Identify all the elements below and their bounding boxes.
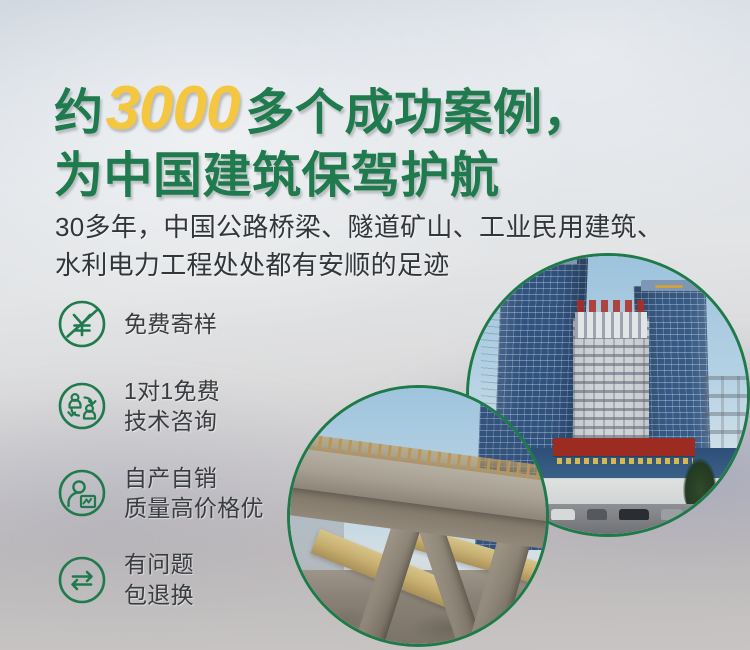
car	[551, 509, 575, 520]
promo-banner: 约3000多个成功案例， 为中国建筑保驾护航 30多年，中国公路桥梁、隧道矿山、…	[0, 0, 750, 650]
headline-prefix: 约	[54, 86, 104, 140]
headline-line-1: 约3000多个成功案例，	[54, 78, 592, 140]
car	[661, 509, 683, 520]
tower-right-accent	[655, 285, 683, 288]
feature-line-2: 包退换	[124, 580, 194, 610]
car	[619, 509, 649, 520]
feature-label: 1对1免费 技术咨询	[124, 376, 220, 437]
feature-line-1: 1对1免费	[124, 376, 220, 406]
feature-label: 自产自销 质量高价格优	[124, 463, 264, 524]
feature-item-return-exchange: 有问题 包退换	[56, 549, 326, 610]
feature-line-1: 自产自销	[124, 463, 264, 493]
one-on-one-consult-icon	[56, 380, 108, 432]
bridge-photo-image	[290, 388, 546, 644]
headline-number: 3000	[104, 74, 246, 143]
feature-item-production-sales: 自产自销 质量高价格优	[56, 463, 326, 524]
feature-line-2: 技术咨询	[124, 406, 220, 436]
feature-label: 免费寄样	[124, 309, 217, 339]
feature-line-1: 免费寄样	[124, 309, 217, 339]
feature-list: 免费寄样 1对1免费 技术咨询	[56, 298, 326, 610]
car	[587, 509, 607, 520]
entrance-sign-band	[553, 438, 695, 456]
roof-sign	[577, 300, 647, 312]
tower-middle-crown	[575, 312, 647, 338]
subtitle-line-2: 水利电力工程处处都有安顺的足迹	[55, 246, 663, 284]
return-exchange-icon	[56, 554, 108, 606]
feature-line-1: 有问题	[124, 549, 194, 579]
subtitle-line-1: 30多年，中国公路桥梁、隧道矿山、工业民用建筑、	[55, 208, 663, 246]
feature-label: 有问题 包退换	[124, 549, 194, 610]
feature-item-consultation: 1对1免费 技术咨询	[56, 376, 326, 437]
entrance-sign-text	[557, 458, 693, 464]
headline: 约3000多个成功案例， 为中国建筑保驾护航	[54, 78, 592, 201]
headline-line-2: 为中国建筑保驾护航	[54, 152, 592, 201]
self-production-sales-icon	[56, 467, 108, 519]
bridge-photo	[287, 385, 549, 647]
car	[691, 509, 711, 520]
headline-suffix: 多个成功案例，	[245, 86, 592, 140]
free-sample-icon	[56, 298, 108, 350]
feature-line-2: 质量高价格优	[124, 493, 264, 523]
subtitle: 30多年，中国公路桥梁、隧道矿山、工业民用建筑、 水利电力工程处处都有安顺的足迹	[55, 208, 663, 285]
feature-item-free-sample: 免费寄样	[56, 298, 326, 350]
